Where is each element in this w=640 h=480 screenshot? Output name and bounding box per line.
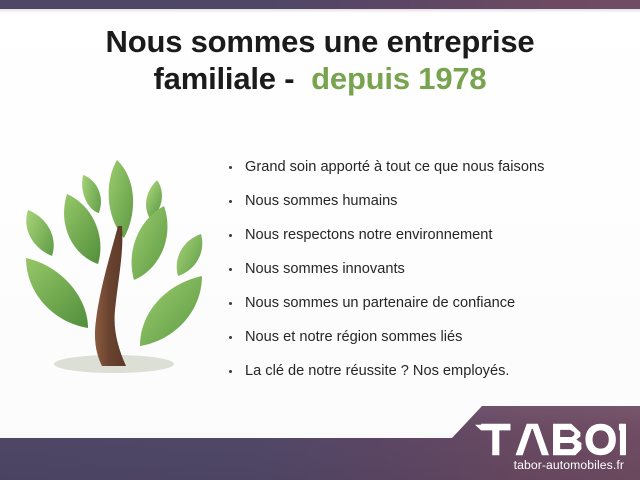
list-item: Nous et notre région sommes liés (228, 320, 628, 354)
headline-line-1: Nous sommes une entreprise (0, 24, 640, 61)
list-item: Nous sommes humains (228, 184, 628, 218)
tree-illustration (14, 152, 214, 390)
list-item: Nous sommes un partenaire de confiance (228, 286, 628, 320)
list-item: La clé de notre réussite ? Nos employés. (228, 354, 628, 388)
headline-accent-since: depuis 1978 (311, 61, 486, 96)
brand-logo[interactable]: tabor-automobiles.fr (458, 423, 626, 472)
headline-line-2-main: familiale - (154, 61, 312, 96)
list-item: Nous sommes innovants (228, 252, 628, 286)
list-item: Grand soin apporté à tout ce que nous fa… (228, 150, 628, 184)
top-accent-bar-fade (0, 9, 640, 13)
slide-canvas: Nous sommes une entreprise familiale - d… (0, 0, 640, 480)
footer-band: tabor-automobiles.fr (0, 400, 640, 480)
tabor-wordmark-icon (474, 423, 626, 456)
list-item: Nous respectons notre environnement (228, 218, 628, 252)
top-accent-bar (0, 0, 640, 9)
brand-tagline: tabor-automobiles.fr (458, 458, 626, 472)
page-title: Nous sommes une entreprise familiale - d… (0, 24, 640, 97)
value-proposition-list: Grand soin apporté à tout ce que nous fa… (228, 150, 628, 388)
headline-line-2: familiale - depuis 1978 (0, 61, 640, 98)
